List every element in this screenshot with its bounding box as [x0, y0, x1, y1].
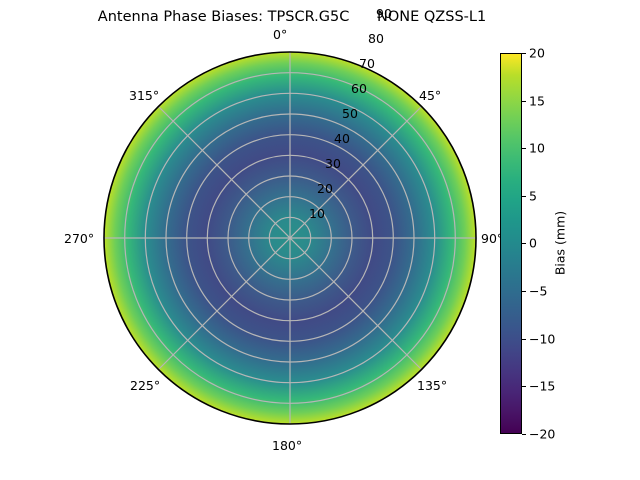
- colorbar-ticklabel-m20: −20: [529, 427, 555, 442]
- polar-plot-svg: [103, 51, 477, 425]
- r-tick-80: 80: [368, 31, 384, 46]
- theta-tick-225: 225°: [130, 378, 160, 393]
- angular-gridlines: [104, 52, 476, 424]
- theta-tick-135: 135°: [417, 378, 447, 393]
- r-tick-50: 50: [342, 106, 358, 121]
- colorbar-tick-m5: [522, 291, 526, 292]
- colorbar-tick-15: [522, 101, 526, 102]
- theta-tick-180: 180°: [272, 438, 302, 453]
- r-tick-90: 90: [376, 6, 392, 21]
- colorbar-ticklabel-15: 15: [529, 94, 545, 109]
- r-tick-60: 60: [351, 81, 367, 96]
- r-tick-10: 10: [309, 206, 325, 221]
- r-tick-20: 20: [317, 181, 333, 196]
- matplotlib-figure: Antenna Phase Biases: TPSCR.G5C NONE QZS…: [0, 0, 640, 480]
- colorbar-axis-label: Bias (mm): [553, 211, 568, 275]
- polar-axes: 10 20 30 40 50 60 70 80 90: [103, 51, 477, 425]
- theta-tick-315: 315°: [129, 88, 159, 103]
- page-title: Antenna Phase Biases: TPSCR.G5C NONE QZS…: [0, 9, 584, 25]
- colorbar-tick-0: [522, 243, 526, 244]
- theta-tick-0: 0°: [273, 27, 287, 42]
- colorbar-gradient: [501, 54, 521, 433]
- r-tick-40: 40: [334, 131, 350, 146]
- colorbar-tick-20: [522, 53, 526, 54]
- colorbar-tick-m20: [522, 434, 526, 435]
- theta-tick-45: 45°: [419, 88, 441, 103]
- colorbar-ticklabel-m5: −5: [529, 284, 547, 299]
- colorbar-tick-5: [522, 196, 526, 197]
- colorbar-ticklabel-20: 20: [529, 46, 545, 61]
- colorbar-tick-m10: [522, 339, 526, 340]
- r-tick-30: 30: [325, 156, 341, 171]
- colorbar-tick-m15: [522, 386, 526, 387]
- r-tick-70: 70: [359, 56, 375, 71]
- colorbar-tick-10: [522, 148, 526, 149]
- colorbar: [500, 53, 522, 434]
- colorbar-ticklabel-0: 0: [529, 236, 537, 251]
- colorbar-ticklabel-m15: −15: [529, 379, 555, 394]
- colorbar-ticklabel-10: 10: [529, 141, 545, 156]
- colorbar-ticklabel-5: 5: [529, 189, 537, 204]
- colorbar-ticklabel-m10: −10: [529, 332, 555, 347]
- theta-tick-270: 270°: [64, 231, 94, 246]
